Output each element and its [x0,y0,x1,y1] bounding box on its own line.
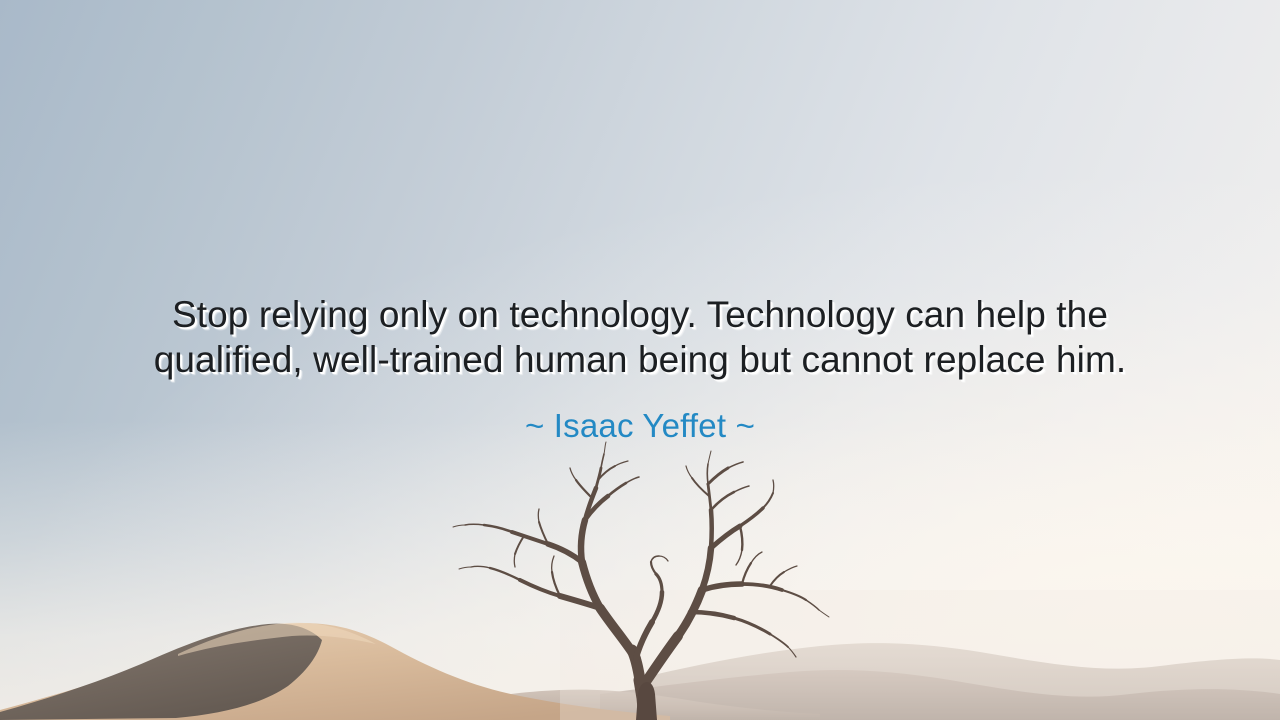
bare-tree [440,436,840,720]
quote-image: Stop relying only on technology. Technol… [0,0,1280,720]
quote-line-2: qualified, well-trained human being but … [0,337,1280,382]
tree-branches [453,442,829,720]
quote-line-1: Stop relying only on technology. Technol… [0,292,1280,337]
quote-text: Stop relying only on technology. Technol… [0,292,1280,382]
attribution-text: ~ Isaac Yeffet ~ [0,405,1280,447]
